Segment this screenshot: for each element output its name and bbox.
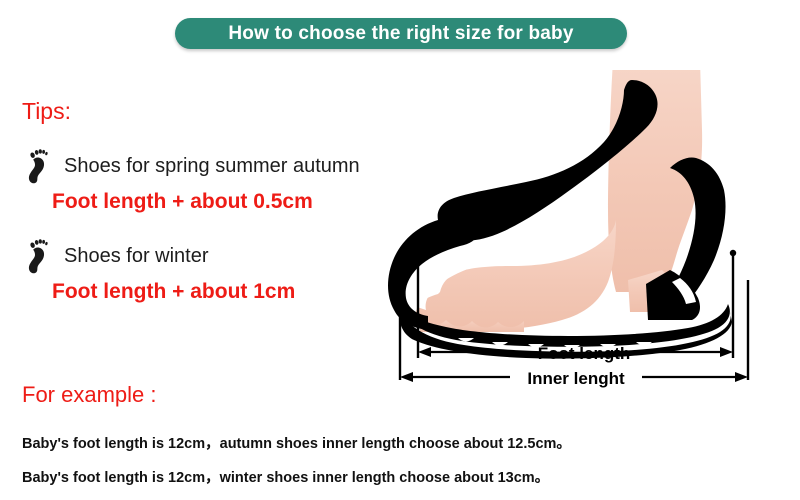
- tip-formula-1: Foot length + about 0.5cm: [52, 190, 313, 214]
- arrow-left-foot-length: [418, 347, 431, 357]
- arrow-right-inner-length: [735, 372, 748, 382]
- arrow-right-foot-length: [720, 347, 733, 357]
- tip-formula-2: Foot length + about 1cm: [52, 280, 295, 304]
- tip-item-2: Shoes for winter: [24, 238, 209, 274]
- page-title: How to choose the right size for baby: [228, 23, 573, 45]
- foot-tip-marker-left: [415, 247, 421, 253]
- tip-item-1: Shoes for spring summer autumn: [24, 148, 360, 184]
- arrow-left-inner-length: [400, 372, 413, 382]
- tip-label-1: Shoes for spring summer autumn: [64, 155, 360, 178]
- tip-label-2: Shoes for winter: [64, 245, 209, 268]
- tips-heading: Tips:: [22, 98, 71, 125]
- footprint-icon: [24, 238, 50, 274]
- example-line-1: Baby's foot length is 12cm，autumn shoes …: [22, 432, 571, 453]
- inner-length-label: Inner lenght: [527, 369, 625, 388]
- example-heading: For example :: [22, 382, 157, 408]
- shoe-foot-diagram: Foot length Inner lenght: [380, 70, 780, 400]
- footprint-icon: [24, 148, 50, 184]
- example-line-2: Baby's foot length is 12cm，winter shoes …: [22, 466, 549, 487]
- foot-length-label: Foot length: [538, 344, 631, 363]
- infographic-page: How to choose the right size for baby Ti…: [0, 0, 800, 500]
- foot-tip-marker-right: [730, 250, 736, 256]
- header-banner: How to choose the right size for baby: [175, 18, 627, 49]
